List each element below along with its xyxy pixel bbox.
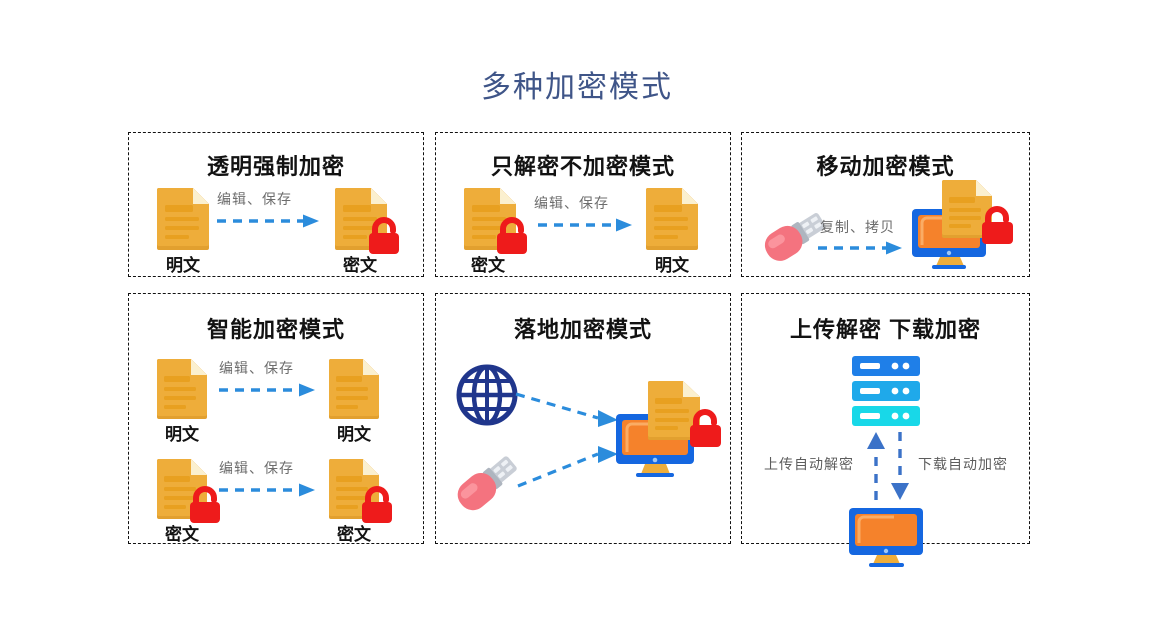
arrow-label: 编辑、保存 [534,193,609,213]
panel-illustration: 明文 编辑、保存 [129,133,423,276]
open-lock-icon [978,205,1018,252]
arrow-label: 编辑、保存 [217,189,292,209]
document-label-plaintext: 明文 [337,420,371,445]
document-icon [644,185,700,256]
document-label-plaintext: 明文 [655,251,689,276]
arrow-label: 复制、拷贝 [820,217,895,237]
dashed-arrow-icon [516,440,620,497]
dashed-arrow-icon [215,213,321,234]
panel-upload-decrypt-download-encrypt: 上传解密 下载加密 [741,293,1030,544]
document-icon [155,356,209,425]
dashed-arrow-icon [816,240,904,261]
dashed-arrow-icon [514,390,620,435]
dashed-arrow-icon [217,482,317,503]
document-label-ciphertext: 密文 [165,520,199,545]
panel-landing-encryption-mode: 落地加密模式 [435,293,731,544]
panel-illustration: 复制、拷贝 [742,133,1029,276]
down-arrow-icon [890,430,910,507]
document-icon [155,185,211,256]
document-icon [327,356,381,425]
document-label-plaintext: 明文 [165,420,199,445]
open-lock-icon [686,408,726,455]
document-label-ciphertext: 密文 [343,251,377,276]
page-title: 多种加密模式 [0,62,1154,106]
document-label-ciphertext: 密文 [337,520,371,545]
dashed-arrow-icon [217,382,317,403]
up-arrow-icon [866,430,886,507]
globe-icon [456,364,518,431]
arrow-label: 编辑、保存 [219,458,294,478]
panel-illustration: 密文 编辑、保存 [436,133,730,276]
server-stack-icon [850,354,922,435]
arrow-label: 编辑、保存 [219,358,294,378]
panel-illustration: 明文 编辑、保存 [129,294,423,543]
download-label: 下载自动加密 [918,454,1008,474]
upload-label: 上传自动解密 [764,454,854,474]
document-label-plaintext: 明文 [166,251,200,276]
panel-decrypt-only-mode: 只解密不加密模式 [435,132,731,277]
document-label-ciphertext: 密文 [471,251,505,276]
monitor-icon [847,506,927,575]
panel-smart-encryption-mode: 智能加密模式 明文 编辑、保存 [128,293,424,544]
dashed-arrow-icon [536,217,634,238]
panel-illustration: 上传自动解密 下载自动加密 [742,294,1029,543]
panel-mobile-encryption-mode: 移动加密模式 复制、拷贝 [741,132,1030,277]
panel-transparent-forced-encryption: 透明强制加密 明文 编辑、保存 [128,132,424,277]
panel-grid: 透明强制加密 明文 编辑、保存 [128,132,1030,544]
panel-illustration [436,294,730,543]
